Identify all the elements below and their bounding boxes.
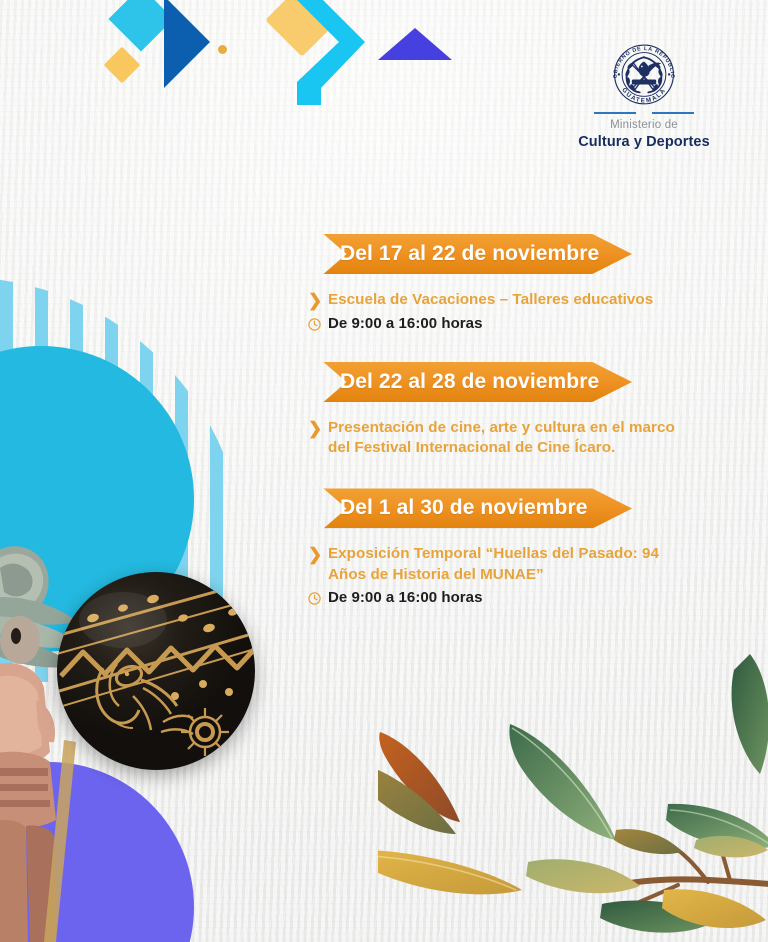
date-banner-label: Del 22 al 28 de noviembre [340,370,599,394]
date-banner: Del 17 al 22 de noviembre [302,234,632,274]
chevron-cyan-icon [295,0,375,105]
schedule-item: ❯ Escuela de Vacaciones – Talleres educa… [308,290,702,311]
mayan-pottery-vessel-image [57,572,255,770]
schedule-list: Del 17 al 22 de noviembre ❯ Escuela de V… [302,234,702,613]
poster-canvas: GOBIERNO DE LA REPÚBLICA GUATEMALA [0,0,768,942]
schedule-block: Del 17 al 22 de noviembre ❯ Escuela de V… [302,234,702,336]
schedule-item: De 9:00 a 16:00 horas [308,314,702,336]
date-banner-label: Del 17 al 22 de noviembre [340,242,599,266]
guatemala-national-emblem-icon: GOBIERNO DE LA REPÚBLICA GUATEMALA [608,40,680,106]
schedule-item-title: Presentación de cine, arte y cultura en … [328,418,678,458]
schedule-item: ❯ Presentación de cine, arte y cultura e… [308,418,702,458]
clock-icon [308,314,328,336]
date-banner-label: Del 1 al 30 de noviembre [340,496,588,520]
logo-line-2: Cultura y Deportes [574,133,714,151]
schedule-block: Del 22 al 28 de noviembre ❯ Presentación… [302,362,702,458]
date-banner: Del 1 al 30 de noviembre [302,488,632,528]
chevron-right-icon: ❯ [308,544,328,565]
schedule-items: ❯ Presentación de cine, arte y cultura e… [308,418,702,458]
geometric-decoration-group [0,0,500,120]
dot-gold-icon [218,45,227,54]
chevron-right-icon: ❯ [308,290,328,311]
schedule-items: ❯ Escuela de Vacaciones – Talleres educa… [308,290,702,336]
logo-divider-rules [574,112,714,114]
schedule-item: ❯ Exposición Temporal “Huellas del Pasad… [308,544,702,584]
logo-line-1: Ministerio de [574,119,714,132]
ministry-logo: GOBIERNO DE LA REPÚBLICA GUATEMALA [574,40,714,151]
date-banner: Del 22 al 28 de noviembre [302,362,632,402]
schedule-item-time: De 9:00 a 16:00 horas [328,588,482,608]
clock-icon [308,588,328,610]
triangle-purple-icon [378,28,452,60]
schedule-item: De 9:00 a 16:00 horas [308,588,702,610]
chevron-right-icon: ❯ [308,418,328,439]
schedule-block: Del 1 al 30 de noviembre ❯ Exposición Te… [302,488,702,609]
schedule-item-time: De 9:00 a 16:00 horas [328,314,482,334]
schedule-item-title: Escuela de Vacaciones – Talleres educati… [328,290,653,310]
tropical-leaves-image [378,654,768,942]
svg-text:GUATEMALA: GUATEMALA [620,87,667,105]
diamond-blue-icon [118,0,210,88]
schedule-items: ❯ Exposición Temporal “Huellas del Pasad… [308,544,702,609]
schedule-item-title: Exposición Temporal “Huellas del Pasado:… [328,544,676,584]
